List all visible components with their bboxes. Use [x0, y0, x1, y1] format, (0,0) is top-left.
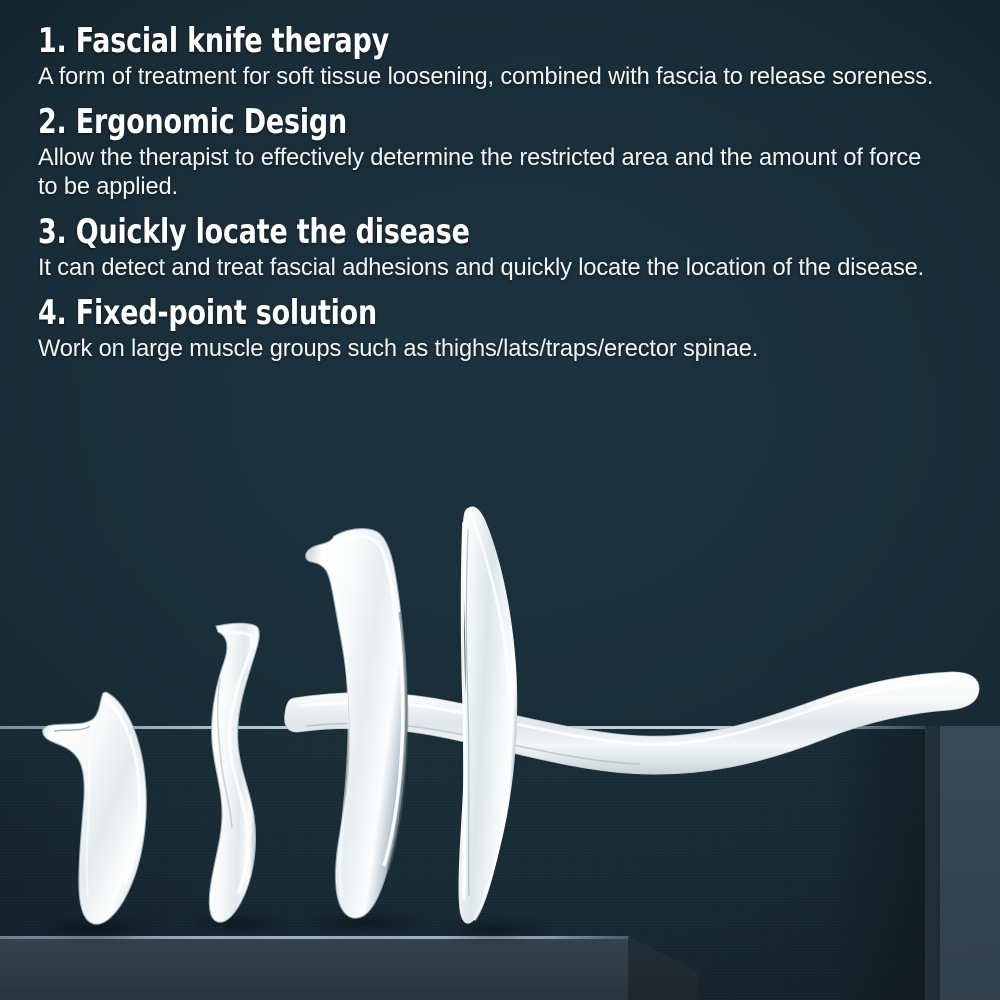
feature-copy-list: 1. Fascial knife therapy A form of treat… — [0, 0, 1000, 363]
feature-3-heading: 3. Quickly locate the disease — [38, 213, 858, 251]
feature-3-body: It can detect and treat fascial adhesion… — [38, 253, 937, 282]
tool-wave-edge-bar — [196, 618, 286, 930]
tool-crescent-blade — [444, 500, 564, 930]
product-feature-graphic: 1. Fascial knife therapy A form of treat… — [0, 0, 1000, 1000]
feature-1-body: A form of treatment for soft tissue loos… — [38, 62, 935, 91]
feature-2-heading: 2. Ergonomic Design — [38, 103, 858, 141]
feature-4-body: Work on large muscle groups such as thig… — [38, 334, 937, 363]
feature-2-body: Allow the therapist to effectively deter… — [38, 143, 937, 201]
tool-curved-gua-sha-scraper — [38, 686, 168, 931]
feature-item-3: 3. Quickly locate the disease It can det… — [38, 213, 970, 282]
feature-item-1: 1. Fascial knife therapy A form of treat… — [38, 22, 970, 91]
feature-item-4: 4. Fixed-point solution Work on large mu… — [38, 294, 970, 363]
feature-item-2: 2. Ergonomic Design Allow the therapist … — [38, 103, 970, 201]
feature-1-heading: 1. Fascial knife therapy — [38, 22, 858, 60]
tool-large-s-curve-blade — [296, 520, 446, 930]
feature-4-heading: 4. Fixed-point solution — [38, 294, 858, 332]
